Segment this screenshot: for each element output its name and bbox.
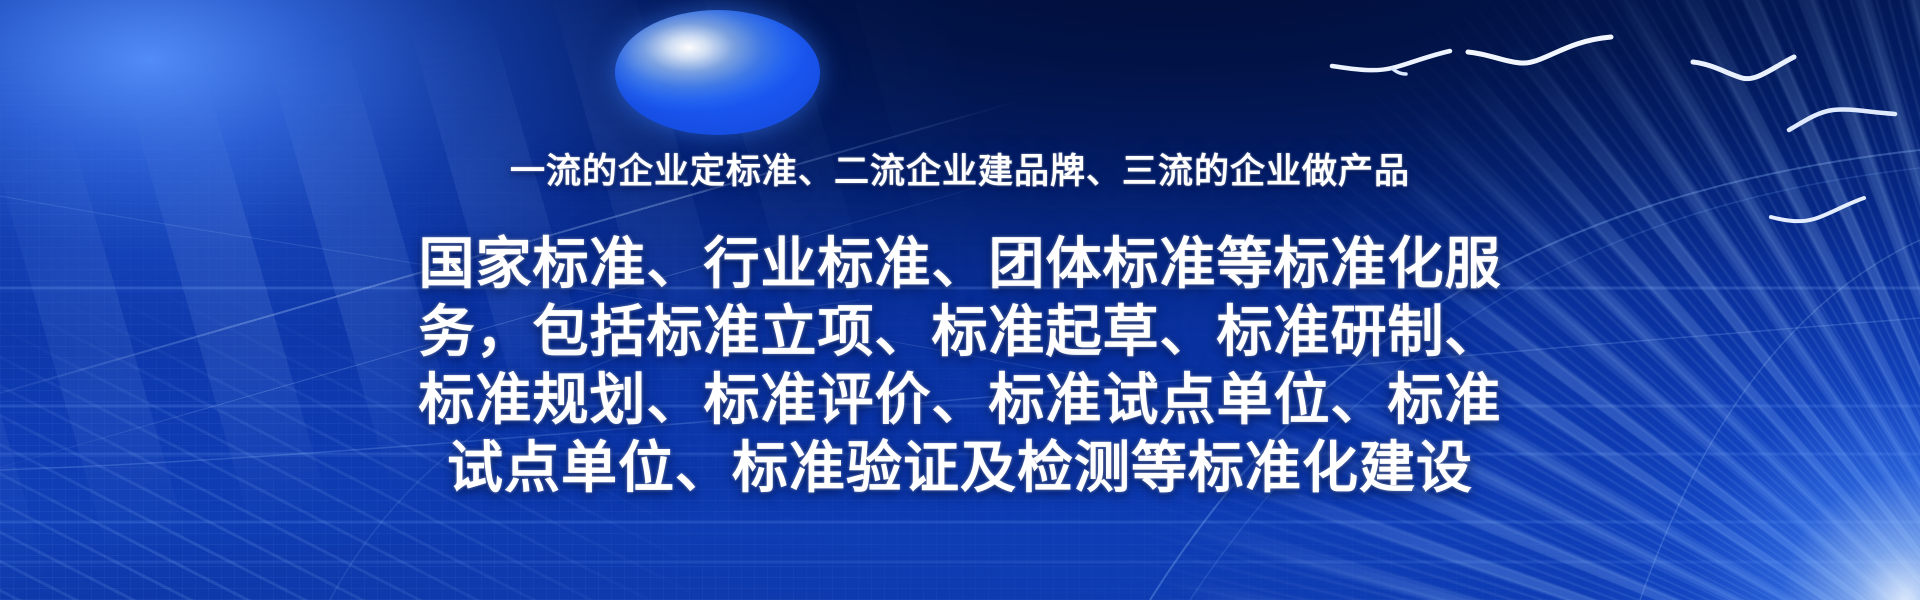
promotional-banner: 一流的企业定标准、二流企业建品牌、三流的企业做产品 国家标准、行业标准、团体标准… [0, 0, 1920, 600]
body-line: 务，包括标准立项、标准起草、标准研制、 [310, 298, 1610, 366]
body-line: 国家标准、行业标准、团体标准等标准化服 [310, 230, 1610, 298]
banner-headline: 一流的企业定标准、二流企业建品牌、三流的企业做产品 [510, 143, 1410, 194]
banner-body-text: 国家标准、行业标准、团体标准等标准化服 务，包括标准立项、标准起草、标准研制、 … [310, 230, 1610, 502]
body-line: 标准规划、标准评价、标准试点单位、标准 [310, 366, 1610, 434]
banner-text-stack: 一流的企业定标准、二流企业建品牌、三流的企业做产品 国家标准、行业标准、团体标准… [0, 0, 1920, 600]
body-line: 试点单位、标准验证及检测等标准化建设 [310, 434, 1610, 502]
